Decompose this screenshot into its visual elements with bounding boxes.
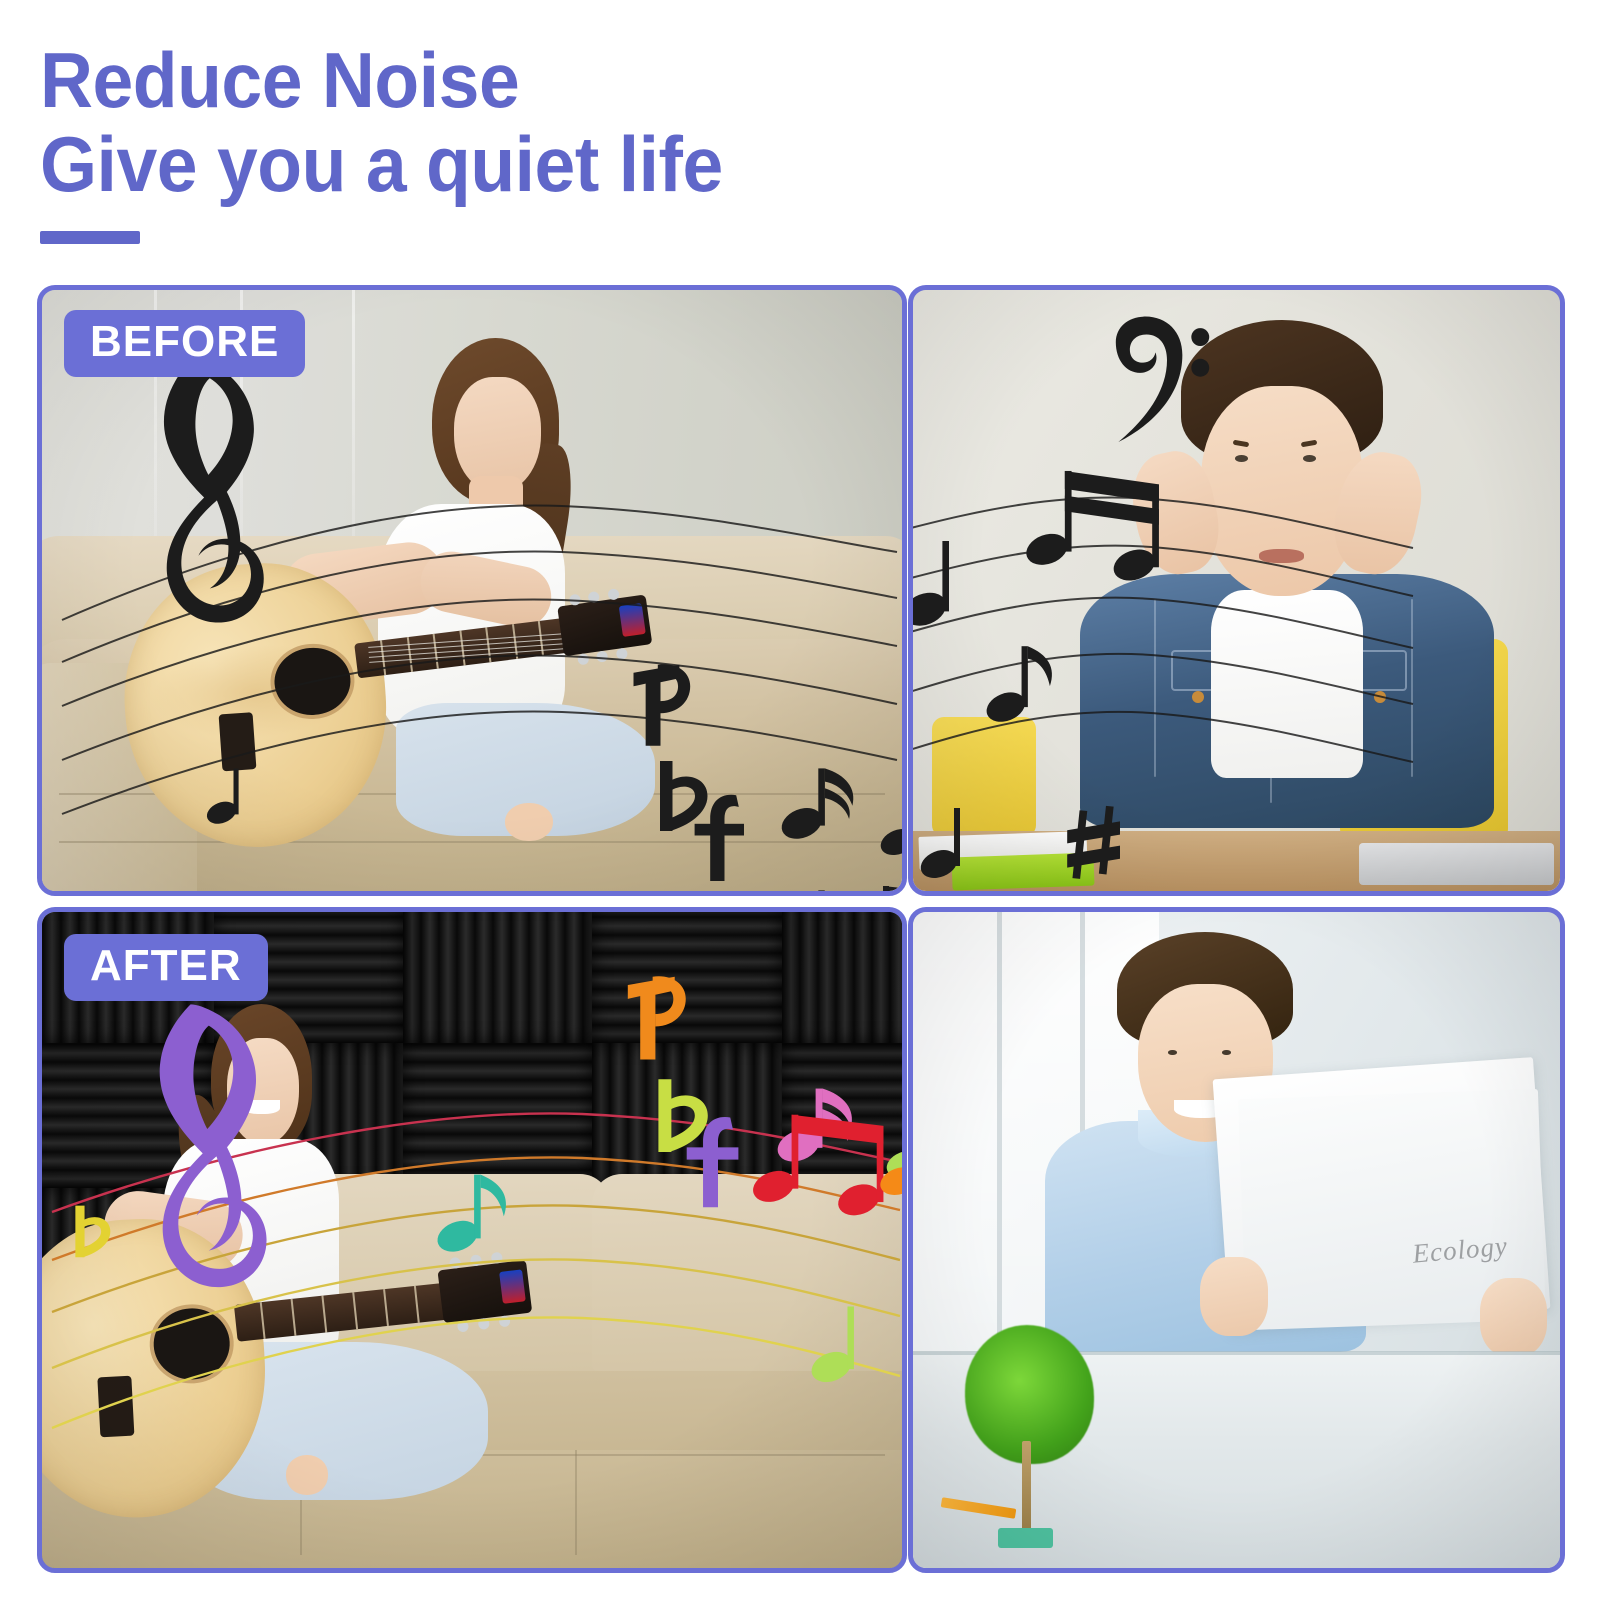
acoustic-guitar-after xyxy=(42,1170,687,1560)
before-after-comparison-grid: BEFORE xyxy=(37,285,1565,1573)
tree-trunk xyxy=(1022,1441,1031,1535)
panel-after-guitar-image xyxy=(42,912,902,1568)
badge-before: BEFORE xyxy=(64,310,305,377)
guitar2-headstock xyxy=(438,1259,533,1323)
badge-after: AFTER xyxy=(64,934,268,1001)
panel-after-guitar: AFTER xyxy=(37,907,907,1573)
guitar2-body xyxy=(42,1213,273,1524)
woman2-smile xyxy=(243,1100,280,1115)
guitar-headstock xyxy=(557,595,653,657)
boy2-left-hand xyxy=(1200,1257,1267,1336)
panel-after-boy: Ecology xyxy=(908,907,1565,1573)
model-tree xyxy=(965,1325,1094,1548)
guitar-bridge xyxy=(218,713,256,772)
laptop xyxy=(1359,843,1553,885)
boy-white-tshirt xyxy=(1211,590,1362,778)
panel-before-boy-image xyxy=(913,290,1560,891)
boy-covering-ears xyxy=(1029,314,1534,867)
headline-block: Reduce Noise Give you a quiet life xyxy=(40,42,1140,244)
acoustic-guitar xyxy=(100,507,810,891)
panel-after-boy-image: Ecology xyxy=(913,912,1560,1568)
headline-line-1: Reduce Noise xyxy=(40,42,1074,118)
panel-before-guitar: BEFORE xyxy=(37,285,907,896)
woman2-face xyxy=(227,1038,299,1145)
guitar2-bridge xyxy=(97,1375,134,1437)
green-notebook xyxy=(951,852,1094,890)
boy-face-frowning xyxy=(1201,386,1362,596)
yellow-chair-left xyxy=(932,717,1036,837)
tree-base xyxy=(998,1528,1052,1548)
guitar2-neck xyxy=(234,1282,457,1342)
headline-line-2: Give you a quiet life xyxy=(40,126,1074,202)
guitar-headstock-label xyxy=(618,603,645,637)
boy2-right-hand xyxy=(1480,1278,1547,1357)
paper-text-ecology: Ecology xyxy=(1411,1231,1509,1270)
boy-mouth xyxy=(1259,549,1304,563)
panel-before-guitar-image xyxy=(42,290,902,891)
guitar2-headstock-label xyxy=(499,1268,526,1304)
panel-before-boy xyxy=(908,285,1565,896)
headline-underline-rule xyxy=(40,231,140,244)
